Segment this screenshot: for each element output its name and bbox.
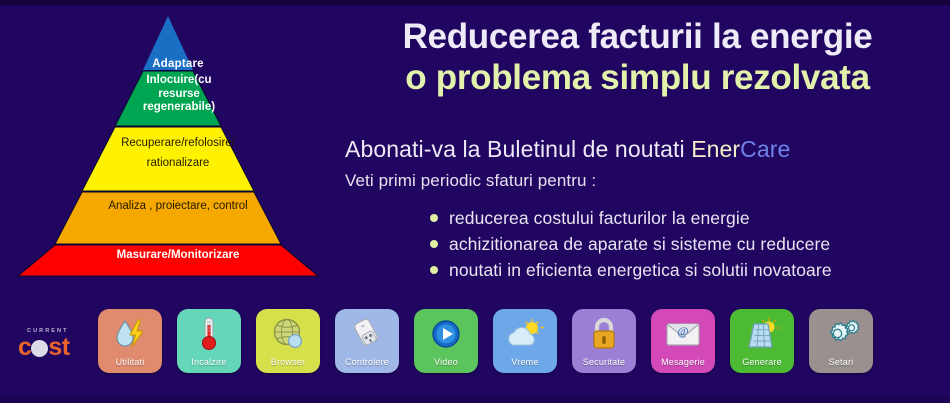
tile-utilitati[interactable]: Utilitati — [98, 309, 162, 373]
globe-magnifier-icon — [256, 314, 320, 354]
logo-text-after: st — [48, 333, 69, 361]
tile-incalzire[interactable]: Incalzire — [177, 309, 241, 373]
bottom-edge-strip — [0, 396, 950, 403]
tile-label: Video — [434, 357, 458, 373]
tile-label: Setari — [829, 357, 854, 373]
tile-generare[interactable]: Generare — [730, 309, 794, 373]
bullet-text: achizitionarea de aparate si sisteme cu … — [449, 234, 830, 255]
tile-label: Browser — [271, 357, 305, 373]
tile-label: Generare — [742, 357, 782, 373]
thermometer-icon — [177, 314, 241, 354]
tile-securitate[interactable]: Securitate — [572, 309, 636, 373]
solar-panel-sun-icon — [730, 314, 794, 354]
newsletter-subscribe-line: Abonati-va la Buletinul de noutati EnerC… — [345, 136, 950, 163]
logo-wordmark: cst — [18, 335, 92, 360]
tile-controlere[interactable]: Controlere — [335, 309, 399, 373]
bullet-text: noutati in eficienta energetica si solut… — [449, 260, 832, 281]
top-edge-strip — [0, 0, 950, 5]
list-item: achizitionarea de aparate si sisteme cu … — [430, 231, 950, 257]
pyramid-level-analiza — [55, 192, 281, 244]
brand-care: Care — [740, 136, 790, 162]
tile-label: Controlere — [345, 357, 389, 373]
headline-line-1: Reducerea facturii la energie — [330, 16, 945, 57]
brand-ener: Ener — [691, 136, 740, 162]
bullet-text: reducerea costului facturilor la energie — [449, 208, 750, 229]
energy-hierarchy-pyramid: Adaptare Inlocuire(cu resurse regenerabi… — [8, 8, 328, 283]
pyramid-svg — [8, 8, 328, 283]
app-tile-row: Utilitati Incalzire — [98, 309, 873, 375]
tile-setari[interactable]: Setari — [809, 309, 873, 373]
pyramid-level-recuperare — [82, 127, 254, 191]
bullet-dot-icon — [430, 240, 438, 248]
bullet-dot-icon — [430, 266, 438, 274]
gears-icon — [809, 314, 873, 354]
sun-cloud-icon — [493, 314, 557, 354]
pyramid-level-adaptare — [143, 16, 193, 70]
list-item: noutati in eficienta energetica si solut… — [430, 257, 950, 283]
benefits-intro: Veti primi periodic sfaturi pentru : — [345, 171, 596, 191]
tile-browser[interactable]: Browser — [256, 309, 320, 373]
padlock-icon — [572, 314, 636, 354]
tile-label: Securitate — [583, 357, 626, 373]
power-plug-icon — [335, 314, 399, 354]
play-button-icon — [414, 314, 478, 354]
logo-text-before: c — [18, 333, 31, 361]
pyramid-level-masurare — [18, 245, 318, 276]
tile-mesagerie[interactable]: @ Mesagerie — [651, 309, 715, 373]
subscribe-prefix: Abonati-va la Buletinul de noutati — [345, 136, 691, 162]
tile-label: Vreme — [511, 357, 538, 373]
pyramid-level-inlocuire — [115, 71, 221, 126]
svg-text:@: @ — [677, 324, 688, 338]
current-cost-logo: CURRENT cst — [18, 322, 92, 366]
list-item: reducerea costului facturilor la energie — [430, 205, 950, 231]
envelope-at-icon: @ — [651, 314, 715, 354]
bullet-dot-icon — [430, 214, 438, 222]
benefits-list: reducerea costului facturilor la energie… — [430, 205, 950, 283]
tile-video[interactable]: Video — [414, 309, 478, 373]
tile-label: Incalzire — [191, 357, 226, 373]
slide-canvas: Adaptare Inlocuire(cu resurse regenerabi… — [0, 0, 950, 403]
tile-label: Mesagerie — [661, 357, 705, 373]
tile-label: Utilitati — [116, 357, 145, 373]
logo-meter-icon — [31, 340, 48, 357]
headline: Reducerea facturii la energie o problema… — [330, 16, 945, 98]
headline-line-2: o problema simplu rezolvata — [330, 57, 945, 98]
water-drop-lightning-icon — [98, 314, 162, 354]
tile-vreme[interactable]: Vreme — [493, 309, 557, 373]
